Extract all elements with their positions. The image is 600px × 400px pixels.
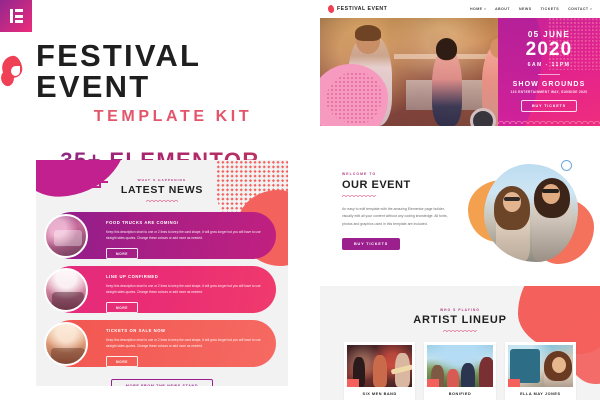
news-card-title: FOOD TRUCKS ARE COMING! <box>106 220 262 225</box>
news-more-button[interactable]: MORE FROM THE NEWS STAND <box>111 379 213 386</box>
news-card-description: Keep this description short to one or 2 … <box>106 283 262 296</box>
hero-year: 2020 <box>504 40 594 60</box>
lineup-card-list: SIX MEN BAND Main Stage 8PM BONIFIED Mai… <box>320 332 600 400</box>
festival-flag-icon <box>0 54 26 88</box>
nav-item-contact[interactable]: CONTACT ▾ <box>568 7 592 11</box>
news-card-body: TICKETS ON SALE NOW Keep this descriptio… <box>102 320 276 368</box>
squiggle-divider-icon <box>342 194 376 197</box>
news-title: LATEST NEWS <box>36 184 288 196</box>
news-card-list: FOOD TRUCKS ARE COMING! Keep this descri… <box>36 212 288 386</box>
about-section: WELCOME TO OUR EVENT An easy to edit tem… <box>320 148 600 280</box>
lineup-title: ARTIST LINEUP <box>320 314 600 326</box>
elementor-logo-icon <box>0 0 32 32</box>
about-buy-tickets-button[interactable]: BUY TICKETS <box>342 238 400 250</box>
elementor-e-mark <box>10 9 23 23</box>
hero-banner: 05 JUNE 2020 6AM - 11PM SHOW GROUNDS 123… <box>320 18 600 126</box>
about-eyebrow: WELCOME TO <box>342 172 454 176</box>
artist-name: ELLA MAY JONES <box>508 392 573 396</box>
lineup-section: WHO S PLAYING ARTIST LINEUP SIX MEN BAND… <box>320 286 600 400</box>
about-body: An easy to edit template with the amazin… <box>342 206 454 228</box>
artist-photo <box>347 345 412 387</box>
site-preview-column: FESTIVAL EVENT HOME ▾ ABOUT NEWS TICKETS… <box>320 0 600 400</box>
hero-dot-pattern <box>326 72 382 124</box>
news-card-title: TICKETS ON SALE NOW <box>106 328 262 333</box>
squiggle-divider-icon <box>146 199 178 202</box>
news-card[interactable]: TICKETS ON SALE NOW Keep this descriptio… <box>48 320 276 367</box>
kit-title-block: FESTIVAL EVENT TEMPLATE KIT 35+ ELEMENTO… <box>0 32 320 152</box>
news-card[interactable]: LINE UP CONFIRMED Keep this description … <box>48 266 276 313</box>
navbar-brand[interactable]: FESTIVAL EVENT <box>328 5 387 13</box>
news-header: WHAT S HAPPENING LATEST NEWS <box>36 160 288 202</box>
news-card-more-button[interactable]: MORE <box>106 248 138 259</box>
hero-buy-tickets-button[interactable]: BUY TICKETS <box>521 100 577 112</box>
corner-tag-decoration <box>427 379 439 387</box>
lineup-header: WHO S PLAYING ARTIST LINEUP <box>320 286 600 332</box>
hero-wave-decoration <box>498 118 600 124</box>
navbar-brand-label: FESTIVAL EVENT <box>337 6 387 12</box>
lineup-eyebrow: WHO S PLAYING <box>320 308 600 312</box>
news-thumbnail <box>44 214 88 258</box>
news-card-more-button[interactable]: MORE <box>106 302 138 313</box>
artist-name: BONIFIED <box>427 392 492 396</box>
news-card-body: LINE UP CONFIRMED Keep this description … <box>102 266 276 314</box>
hero-time: 6AM - 11PM <box>504 62 594 68</box>
artist-card[interactable]: SIX MEN BAND Main Stage 8PM <box>344 342 415 400</box>
artist-photo <box>508 345 573 387</box>
news-eyebrow: WHAT S HAPPENING <box>36 178 288 182</box>
navbar-menu: HOME ▾ ABOUT NEWS TICKETS CONTACT ▾ <box>470 7 592 11</box>
nav-item-home[interactable]: HOME ▾ <box>470 7 486 11</box>
page-subtitle: TEMPLATE KIT <box>0 108 320 126</box>
hero-venue: SHOW GROUNDS <box>504 81 594 88</box>
nav-item-about[interactable]: ABOUT <box>495 7 510 11</box>
artist-card[interactable]: ELLA MAY JONES Main Stage 4PM <box>505 342 576 400</box>
hero-address: 123 ENTERTAINMENT WAY, SUNSIDE 2020 <box>504 90 594 94</box>
nav-item-news[interactable]: NEWS <box>519 7 532 11</box>
news-card-body: FOOD TRUCKS ARE COMING! Keep this descri… <box>102 212 276 260</box>
about-photo <box>484 164 578 262</box>
circle-outline-decoration <box>561 160 572 171</box>
news-card-description: Keep this description short to one or 2 … <box>106 337 262 350</box>
news-section: WHAT S HAPPENING LATEST NEWS FOOD TRUCKS… <box>36 160 288 386</box>
artist-card[interactable]: BONIFIED Main Stage 6PM <box>424 342 495 400</box>
news-card-description: Keep this description short to one or 2 … <box>106 229 262 242</box>
corner-tag-decoration <box>508 379 520 387</box>
hero-info-content: 05 JUNE 2020 6AM - 11PM SHOW GROUNDS 123… <box>498 18 600 126</box>
divider <box>538 74 560 75</box>
news-thumbnail <box>44 268 88 312</box>
about-title: OUR EVENT <box>342 179 454 191</box>
artist-name: SIX MEN BAND <box>347 392 412 396</box>
hero-date: 05 JUNE <box>504 30 594 39</box>
template-kit-preview: FESTIVAL EVENT TEMPLATE KIT 35+ ELEMENTO… <box>0 0 600 400</box>
about-text-block: WELCOME TO OUR EVENT An easy to edit tem… <box>342 172 454 250</box>
news-card-title: LINE UP CONFIRMED <box>106 274 262 279</box>
festival-flag-icon <box>327 5 334 14</box>
news-card-more-button[interactable]: MORE <box>106 356 138 367</box>
page-title: FESTIVAL EVENT <box>36 40 320 102</box>
site-navbar: FESTIVAL EVENT HOME ▾ ABOUT NEWS TICKETS… <box>320 0 600 18</box>
news-more-row: MORE FROM THE NEWS STAND <box>48 374 276 386</box>
title-row: FESTIVAL EVENT <box>0 40 320 102</box>
about-artwork <box>466 158 594 270</box>
nav-item-tickets[interactable]: TICKETS <box>541 7 560 11</box>
hero-info-panel: 05 JUNE 2020 6AM - 11PM SHOW GROUNDS 123… <box>498 18 600 126</box>
news-thumbnail <box>44 322 88 366</box>
corner-tag-decoration <box>347 379 359 387</box>
artist-photo <box>427 345 492 387</box>
news-card[interactable]: FOOD TRUCKS ARE COMING! Keep this descri… <box>48 212 276 259</box>
